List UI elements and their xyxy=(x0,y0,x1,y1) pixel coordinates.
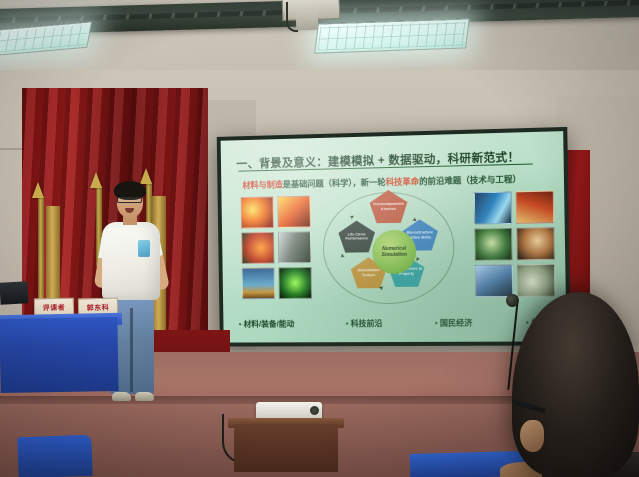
slide-title: 一、背景及意义：建模模拟 + 数据驱动，科研新范式！ xyxy=(236,148,555,172)
laptop[interactable] xyxy=(0,281,29,304)
slide-bullet: 科技前沿 xyxy=(346,318,383,329)
blue-draped-table xyxy=(0,317,119,393)
tshirt-logo xyxy=(138,240,150,257)
pentagon-cycle-diagram: Thermodynamics Kinetics Microstructure L… xyxy=(314,188,486,309)
ceiling-mount-arm xyxy=(296,10,319,31)
node-label: Life Circle Performance xyxy=(340,232,373,241)
audience-ear xyxy=(520,420,544,452)
microphone-icon xyxy=(506,294,519,307)
projection-screen-frame: 一、背景及意义：建模模拟 + 数据驱动，科研新范式！ 材料与制造是基础问题（科学… xyxy=(217,127,571,347)
slide-bullet: 国民经济 xyxy=(435,317,473,328)
flag-finial-1 xyxy=(32,182,44,198)
slide-subtitle-part-3: 科技革命 xyxy=(386,176,420,187)
slide-subtitle: 材料与制造是基础问题（科学），新一轮科技革命的前沿难题（技术与工程） xyxy=(242,172,562,191)
thumbnail-image xyxy=(241,196,274,228)
thumbnail-image xyxy=(277,196,311,228)
slide-subtitle-part-1: 材料与制造 xyxy=(242,179,283,190)
thumbnail-image xyxy=(517,264,556,297)
ceiling-cable xyxy=(286,2,298,32)
node-label: Thermodynamics Kinetics xyxy=(372,202,406,212)
ceiling-light-right xyxy=(314,18,470,53)
blue-chair-left xyxy=(17,435,92,477)
hub-label: Numerical Simulation xyxy=(372,246,416,259)
slide-subtitle-part-2: 是基础问题（科学），新一轮 xyxy=(283,177,386,189)
thumbnail-image xyxy=(242,267,275,299)
thumbnail-image xyxy=(278,231,312,263)
thumbnail-image xyxy=(241,232,274,264)
node-label: Deformation Texture xyxy=(353,268,385,277)
slide-bullet: 材料/装备/能动 xyxy=(239,319,295,330)
thumbnail-grid-left xyxy=(241,196,312,300)
projector-lens xyxy=(310,406,319,415)
thumbnail-grid-right xyxy=(474,191,556,298)
thumbnail-image xyxy=(516,227,555,260)
lecture-hall-photo: 一、背景及意义：建模模拟 + 数据驱动，科研新范式！ 材料与制造是基础问题（科学… xyxy=(0,0,639,477)
glasses-icon xyxy=(117,197,142,203)
presenter-shoe xyxy=(112,392,131,401)
thumbnail-image xyxy=(516,191,555,224)
slide-subtitle-part-4: 的前沿难题（技术与工程） xyxy=(419,174,521,186)
projector-table xyxy=(234,424,338,472)
thumbnail-image xyxy=(278,267,312,299)
presenter-shoe xyxy=(135,392,154,401)
presenter-white-tshirt xyxy=(102,222,160,300)
